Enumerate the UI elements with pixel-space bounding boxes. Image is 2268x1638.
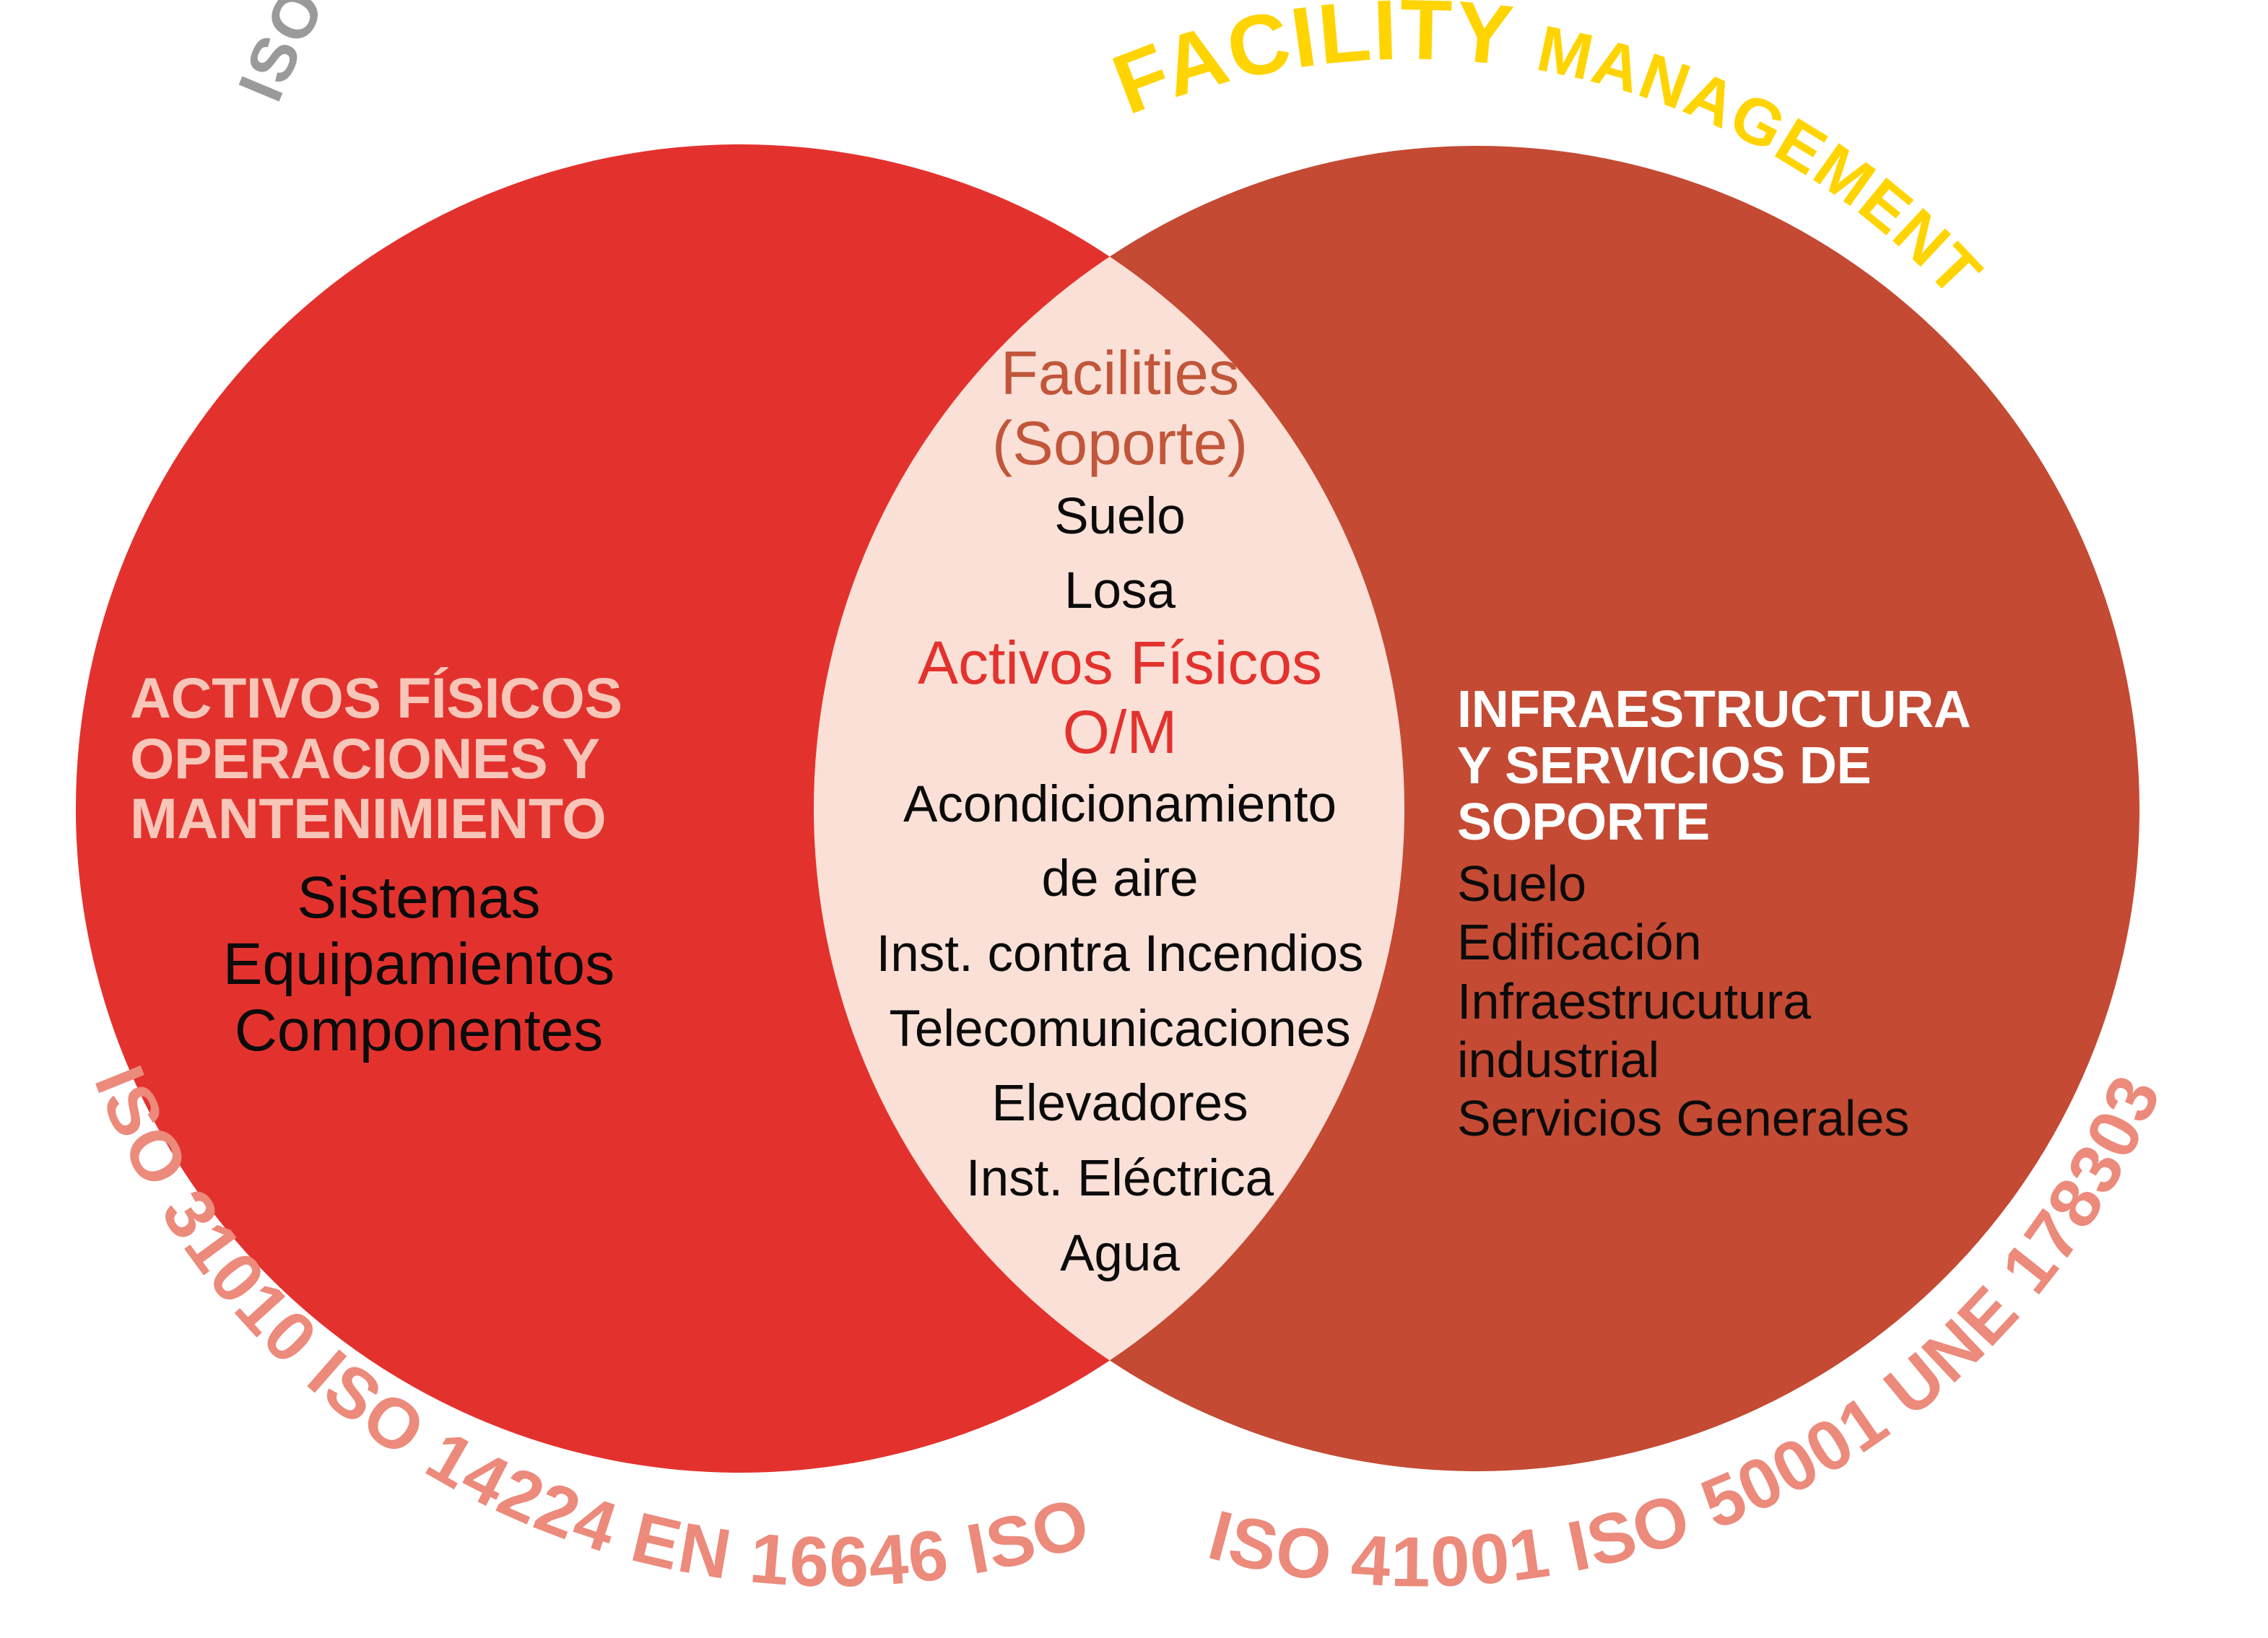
left-heading: ACTIVOS FÍSICOS OPERACIONES Y MANTENIMIE… (130, 668, 708, 849)
overlap-item: Acondicionamiento (827, 767, 1412, 842)
overlap-item: Inst. Eléctrica (827, 1141, 1412, 1216)
right-heading-line-3: SOPORTE (1457, 795, 2093, 851)
list-item: Edificación (1457, 913, 2093, 972)
overlap-item: Inst. contra Incendios (827, 917, 1412, 992)
overlap-item: Losa (827, 554, 1412, 629)
overlap-item: Elevadores (827, 1066, 1412, 1141)
overlap-title-line-1: Facilities (827, 339, 1412, 409)
list-item: Servicios Generales (1457, 1089, 2093, 1148)
overlap-emphasis-line-2: O/M (827, 698, 1412, 767)
right-heading-line-2: Y SERVICIOS DE (1457, 739, 2093, 795)
list-item: Equipamientos (130, 931, 708, 998)
left-heading-line-3: MANTENIMIENTO (130, 788, 708, 849)
left-heading-line-1: ACTIVOS FÍSICOS (130, 668, 708, 728)
list-item: Componentes (130, 998, 708, 1064)
left-heading-line-2: OPERACIONES Y (130, 728, 708, 789)
list-item: Infraestrucutura (1457, 972, 2093, 1031)
list-item: industrial (1457, 1031, 2093, 1089)
asset-management-content: ACTIVOS FÍSICOS OPERACIONES Y MANTENIMIE… (130, 668, 708, 1064)
list-item: Suelo (1457, 855, 2093, 913)
arc-iso-21500: ISO 21500 (224, 0, 466, 110)
right-heading-line-1: INFRAESTRUCTURA (1457, 682, 2093, 739)
overlap-item: de aire (827, 842, 1412, 917)
right-heading: INFRAESTRUCTURA Y SERVICIOS DE SOPORTE (1457, 682, 2093, 850)
right-item-list: Suelo Edificación Infraestrucutura indus… (1457, 855, 2093, 1148)
overlap-item: Telecomunicaciones (827, 992, 1412, 1067)
list-item: Sistemas (130, 865, 708, 931)
venn-diagram-canvas: ISO 21500 PROJECT MANAGEMENT ASSET MANAG… (0, 0, 2268, 1638)
overlap-title: Facilities (Soporte) (827, 339, 1412, 479)
left-item-list: Sistemas Equipamientos Componentes (130, 865, 708, 1063)
overlap-emphasis: Activos Físicos O/M (827, 629, 1412, 767)
overlap-item: Agua (827, 1216, 1412, 1291)
overlap-title-line-2: (Soporte) (827, 409, 1412, 479)
overlap-content: Facilities (Soporte) Suelo Losa Activos … (827, 339, 1412, 1291)
overlap-item: Suelo (827, 479, 1412, 554)
facility-management-content: INFRAESTRUCTURA Y SERVICIOS DE SOPORTE S… (1457, 682, 2093, 1148)
overlap-emphasis-line-1: Activos Físicos (827, 629, 1412, 698)
